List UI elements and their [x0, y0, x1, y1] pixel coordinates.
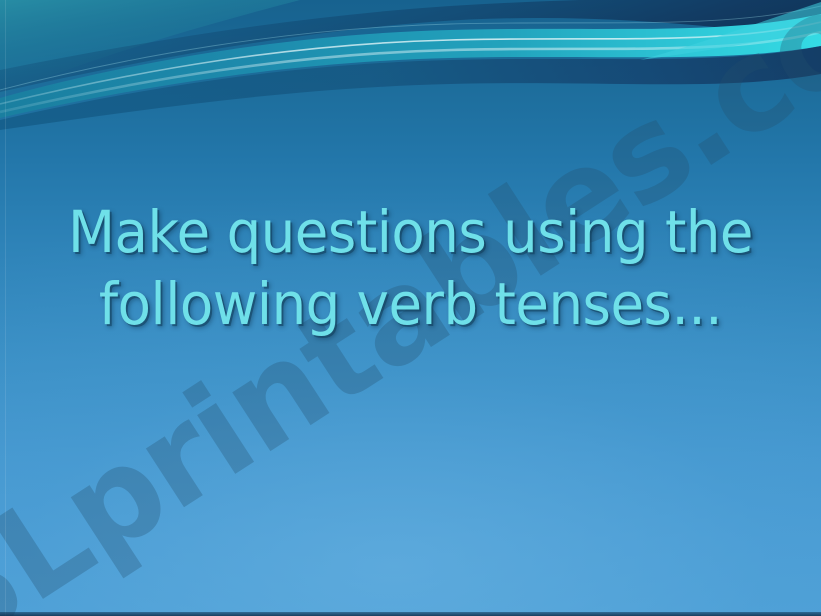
presentation-slide: ESLprintables.com Make questions using t…	[0, 0, 821, 616]
slide-title: Make questions using the following verb …	[0, 196, 821, 340]
title-line-1: Make questions using the	[64, 196, 757, 268]
bottom-edge-border	[0, 612, 821, 616]
title-line-2: following verb tenses...	[64, 268, 757, 340]
wave-decoration-icon	[0, 0, 821, 130]
